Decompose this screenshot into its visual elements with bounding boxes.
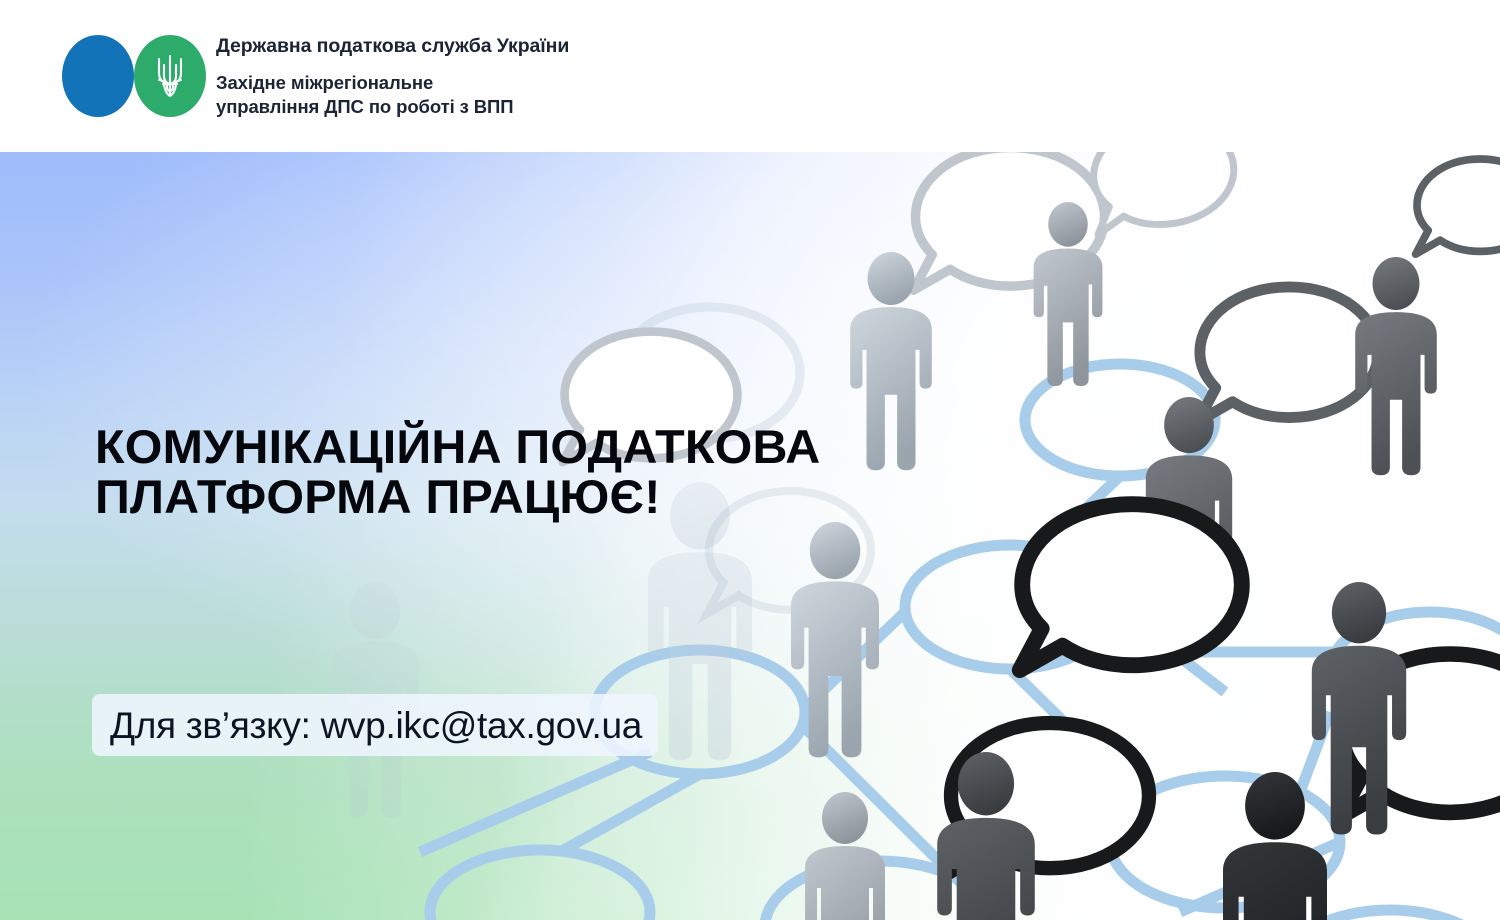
organization-text: Державна податкова служба України Західн… (216, 36, 916, 119)
contact-email-box[interactable]: Для зв’язку: wvp.ikc@tax.gov.ua (92, 694, 658, 756)
page-title: КОМУНІКАЦІЙНА ПОДАТКОВА ПЛАТФОРМА ПРАЦЮЄ… (95, 422, 940, 523)
site-header: Державна податкова служба України Західн… (0, 0, 1500, 152)
person-figure (805, 792, 885, 920)
ghost-figures (331, 482, 752, 817)
hero-stage: КОМУНІКАЦІЙНА ПОДАТКОВА ПЛАТФОРМА ПРАЦЮЄ… (0, 152, 1500, 920)
department-line-2: управління ДПС по роботі з ВПП (216, 95, 916, 119)
department-line-1: Західне міжрегіональне (216, 71, 916, 95)
person-figure (1355, 257, 1437, 475)
contact-email-text: Для зв’язку: wvp.ikc@tax.gov.ua (110, 707, 642, 744)
promo-banner: Державна податкова служба України Західн… (0, 0, 1500, 920)
ukraine-trident-icon (155, 51, 185, 101)
logo-blue-circle-icon (62, 35, 134, 117)
organization-name: Державна податкова служба України (216, 36, 916, 56)
dps-logo[interactable] (62, 35, 208, 117)
headline-line-1: КОМУНІКАЦІЙНА ПОДАТКОВА (95, 422, 940, 472)
speech-bubbles-mid (1198, 159, 1500, 422)
headline-line-2: ПЛАТФОРМА ПРАЦЮЄ! (95, 472, 940, 522)
department-name: Західне міжрегіональне управління ДПС по… (216, 71, 916, 118)
people-network-illustration (0, 152, 1500, 920)
